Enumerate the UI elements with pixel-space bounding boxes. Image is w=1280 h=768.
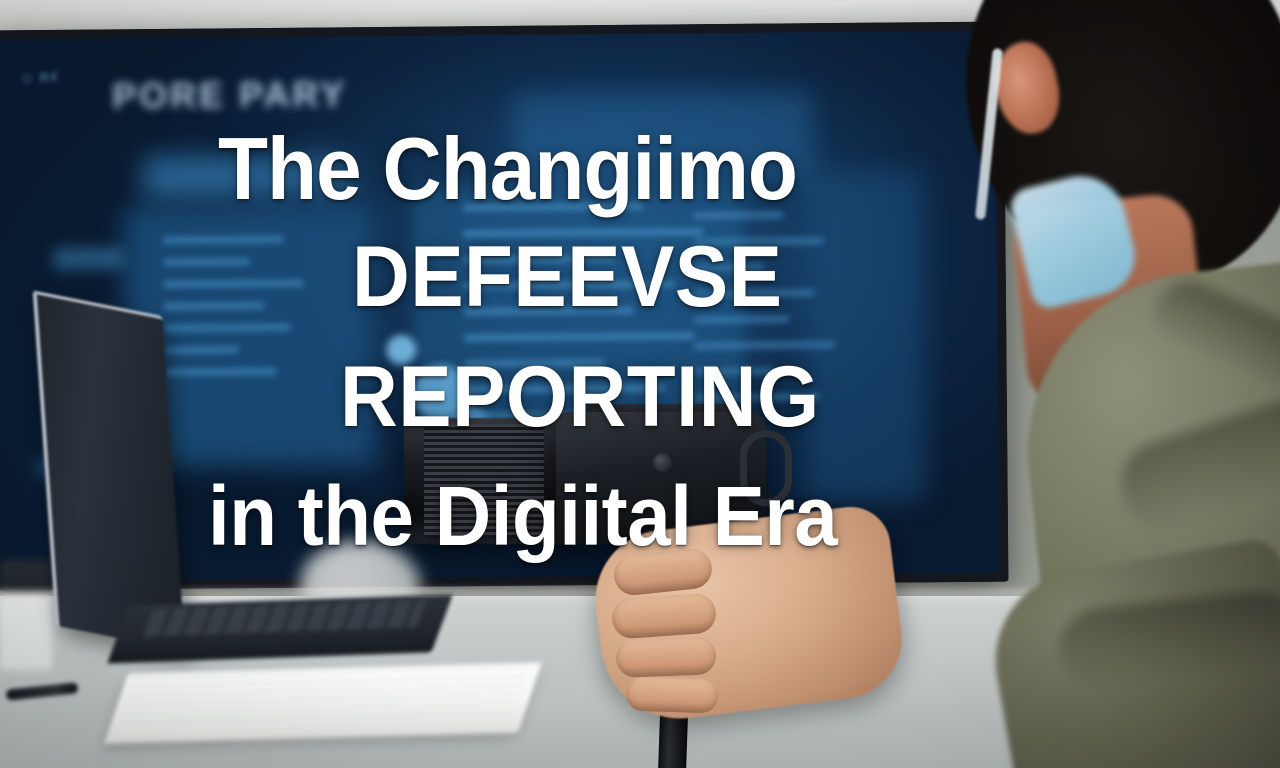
camera-strap-loop — [740, 430, 792, 506]
finger — [615, 636, 716, 677]
camera-lens-focus-ring — [424, 424, 544, 538]
laptop-screen — [33, 290, 186, 651]
thumbnail-image: ◇ RF PORE PARY — [0, 0, 1280, 768]
finger — [611, 592, 718, 639]
finger — [625, 676, 718, 713]
desk-bottle — [0, 560, 52, 670]
camera-dial — [652, 452, 674, 474]
screen-corner-label: ◇ RF — [22, 70, 61, 86]
screen-headline: PORE PARY — [112, 73, 347, 117]
